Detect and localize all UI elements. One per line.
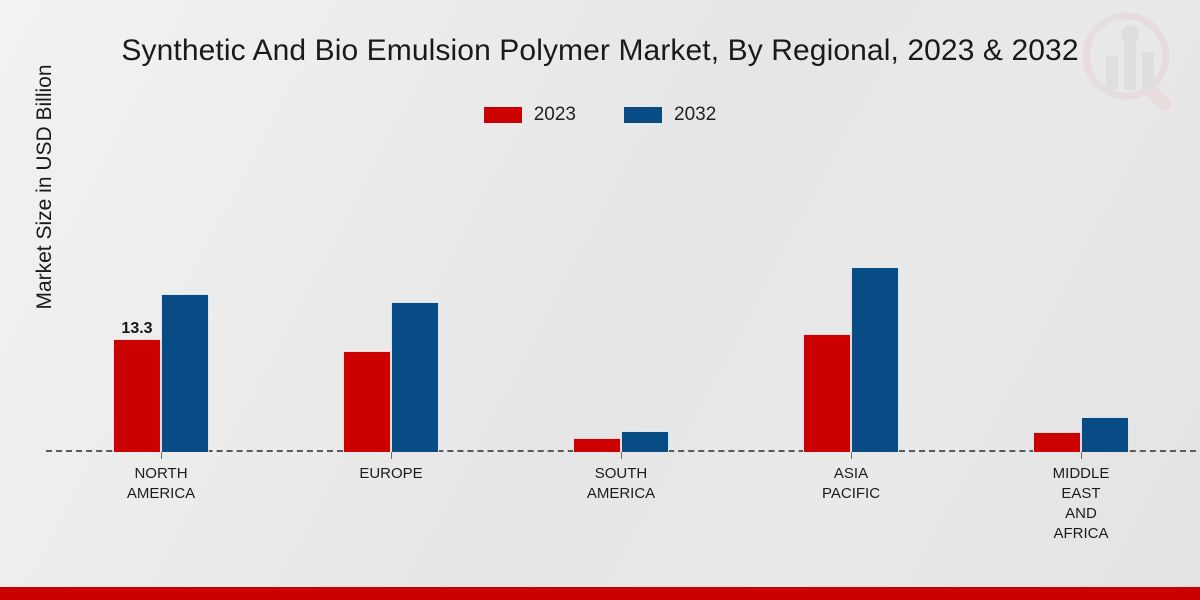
x-tick-asia-pacific [851,452,852,459]
bar-group-asia-pacific: ASIA PACIFIC [736,150,966,452]
bar-2023-middle-east-and-africa[interactable] [1033,432,1081,452]
bar-2032-europe[interactable] [391,302,439,452]
x-label-asia-pacific: ASIA PACIFIC [822,464,880,504]
bar-2023-north-america[interactable]: 13.3 [113,339,161,452]
x-label-middle-east-and-africa: MIDDLE EAST AND AFRICA [1053,464,1110,544]
bar-2032-middle-east-and-africa[interactable] [1081,417,1129,452]
x-label-south-america: SOUTH AMERICA [587,464,655,504]
legend-label-2032: 2032 [674,104,716,126]
x-tick-north-america [161,452,162,459]
bar-2032-asia-pacific[interactable] [851,267,899,452]
bar-group-south-america: SOUTH AMERICA [506,150,736,452]
bar-value-2023-north-america: 13.3 [121,320,152,338]
bar-group-middle-east-and-africa: MIDDLE EAST AND AFRICA [966,150,1196,452]
bar-2023-asia-pacific[interactable] [803,334,851,453]
legend-item-2032[interactable]: 2032 [624,104,716,126]
chart-figure: Synthetic And Bio Emulsion Polymer Marke… [0,0,1200,600]
legend-swatch-2032 [624,107,662,123]
chart-legend: 2023 2032 [0,104,1200,126]
bar-group-north-america: 13.3 NORTH AMERICA [46,150,276,452]
bar-2023-south-america[interactable] [573,438,621,452]
bar-2032-north-america[interactable] [161,294,209,452]
x-tick-europe [391,452,392,459]
legend-swatch-2023 [484,107,522,123]
bar-group-europe: EUROPE [276,150,506,452]
plot-area: 13.3 NORTH AMERICA EUROPE SOUTH AMERICA [46,150,1196,452]
bar-2023-europe[interactable] [343,351,391,452]
x-tick-south-america [621,452,622,459]
legend-item-2023[interactable]: 2023 [484,104,576,126]
x-label-north-america: NORTH AMERICA [127,464,195,504]
x-tick-middle-east-and-africa [1081,452,1082,459]
page-title: Synthetic And Bio Emulsion Polymer Marke… [0,34,1200,68]
legend-label-2023: 2023 [534,104,576,126]
bottom-accent-strip [0,587,1200,600]
bar-2032-south-america[interactable] [621,431,669,452]
x-label-europe: EUROPE [359,464,422,484]
